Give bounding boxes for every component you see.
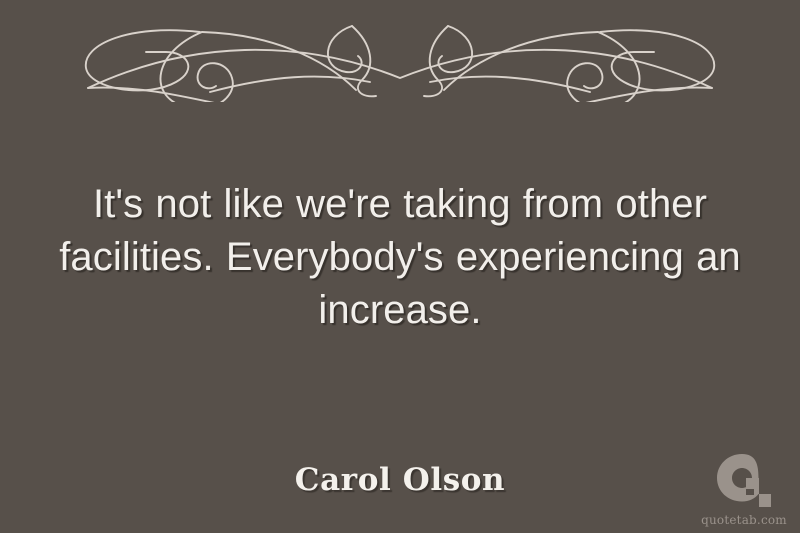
watermark-label: quotetab.com (701, 513, 787, 527)
quotetab-q-logo-icon (713, 451, 775, 511)
quote-block: It's not like we're taking from other fa… (40, 178, 760, 337)
calligraphic-flourish-icon (70, 10, 730, 102)
author-block: Carol Olson (0, 462, 800, 498)
author-name[interactable]: Carol Olson (295, 462, 505, 498)
quote-text: It's not like we're taking from other fa… (40, 178, 760, 337)
watermark[interactable]: quotetab.com (696, 451, 792, 527)
ornament-divider (0, 8, 800, 104)
quote-card: It's not like we're taking from other fa… (0, 0, 800, 533)
